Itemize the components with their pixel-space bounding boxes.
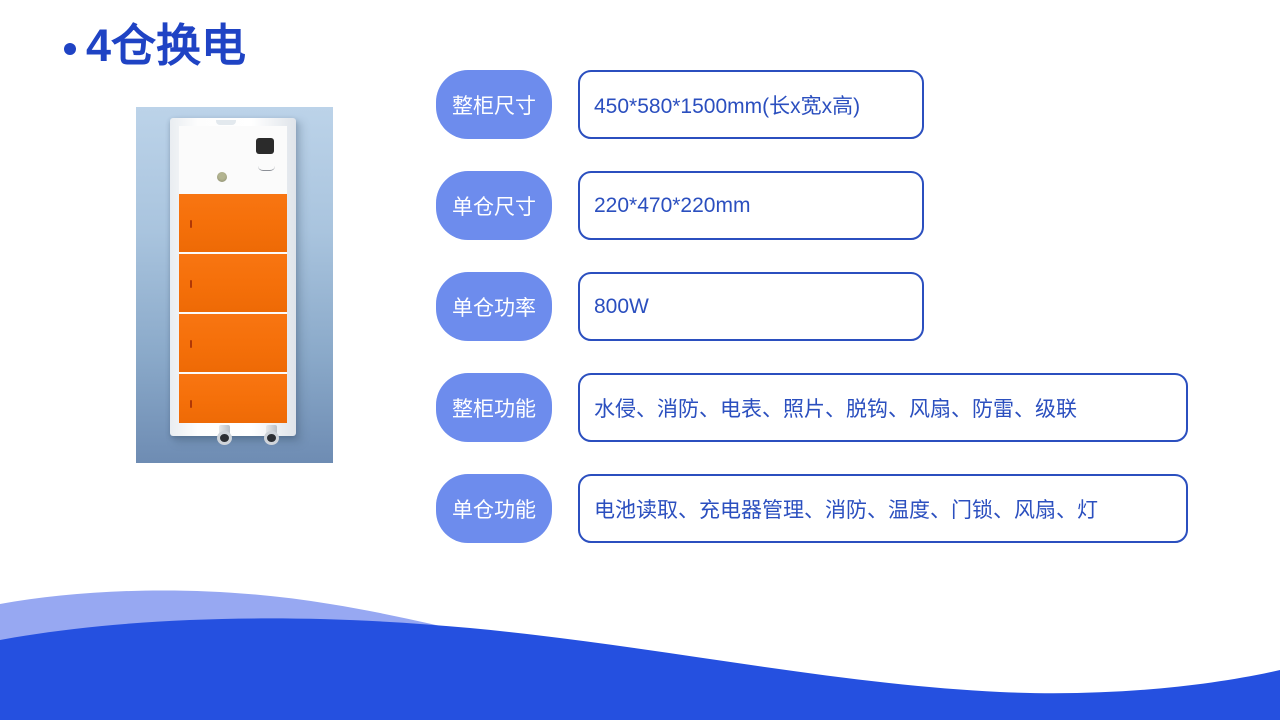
spec-label-slot-power: 单仓功率 bbox=[436, 272, 552, 341]
card-reader-slot-icon bbox=[258, 166, 275, 171]
compartment-door bbox=[179, 254, 287, 312]
spec-row: 单仓尺寸 220*470*220mm bbox=[436, 171, 1216, 240]
compartment-door bbox=[179, 314, 287, 372]
spec-value-slot-features: 电池读取、充电器管理、消防、温度、门锁、风扇、灯 bbox=[578, 474, 1188, 543]
cabinet-top-nub bbox=[216, 120, 236, 125]
compartment-door bbox=[179, 374, 287, 423]
door-handle-icon bbox=[190, 340, 192, 348]
spec-label-slot-features: 单仓功能 bbox=[436, 474, 552, 543]
battery-swap-cabinet bbox=[170, 118, 296, 436]
spec-label-cabinet-features: 整柜功能 bbox=[436, 373, 552, 442]
spec-value-slot-size: 220*470*220mm bbox=[578, 171, 924, 240]
spec-value-cabinet-size: 450*580*1500mm(长x宽x高) bbox=[578, 70, 924, 139]
page-title: 4仓换电 bbox=[64, 22, 246, 69]
door-handle-icon bbox=[190, 280, 192, 288]
caster-wheel-icon bbox=[263, 425, 280, 445]
spec-row: 整柜功能 水侵、消防、电表、照片、脱钩、风扇、防雷、级联 bbox=[436, 373, 1216, 442]
caster-wheel-icon bbox=[216, 425, 233, 445]
bottom-wave-decoration bbox=[0, 560, 1280, 720]
spec-value-cabinet-features: 水侵、消防、电表、照片、脱钩、风扇、防雷、级联 bbox=[578, 373, 1188, 442]
door-handle-icon bbox=[190, 400, 192, 408]
spec-label-slot-size: 单仓尺寸 bbox=[436, 171, 552, 240]
spec-list: 整柜尺寸 450*580*1500mm(长x宽x高) 单仓尺寸 220*470*… bbox=[436, 70, 1216, 575]
bullet-icon bbox=[64, 43, 76, 55]
cabinet-face bbox=[179, 126, 287, 423]
spec-row: 单仓功率 800W bbox=[436, 272, 1216, 341]
caster-wheel bbox=[217, 431, 232, 445]
slide-canvas: 4仓换电 bbox=[0, 0, 1280, 720]
spec-row: 整柜尺寸 450*580*1500mm(长x宽x高) bbox=[436, 70, 1216, 139]
spec-row: 单仓功能 电池读取、充电器管理、消防、温度、门锁、风扇、灯 bbox=[436, 474, 1216, 543]
wave-primary-shape bbox=[0, 618, 1280, 720]
caster-wheel bbox=[264, 431, 279, 445]
page-title-text: 4仓换电 bbox=[86, 22, 246, 69]
door-handle-icon bbox=[190, 220, 192, 228]
product-photo bbox=[136, 107, 333, 463]
spec-value-slot-power: 800W bbox=[578, 272, 924, 341]
spec-label-cabinet-size: 整柜尺寸 bbox=[436, 70, 552, 139]
compartment-door bbox=[179, 194, 287, 252]
power-button-icon bbox=[217, 172, 227, 182]
display-screen-icon bbox=[256, 138, 274, 154]
